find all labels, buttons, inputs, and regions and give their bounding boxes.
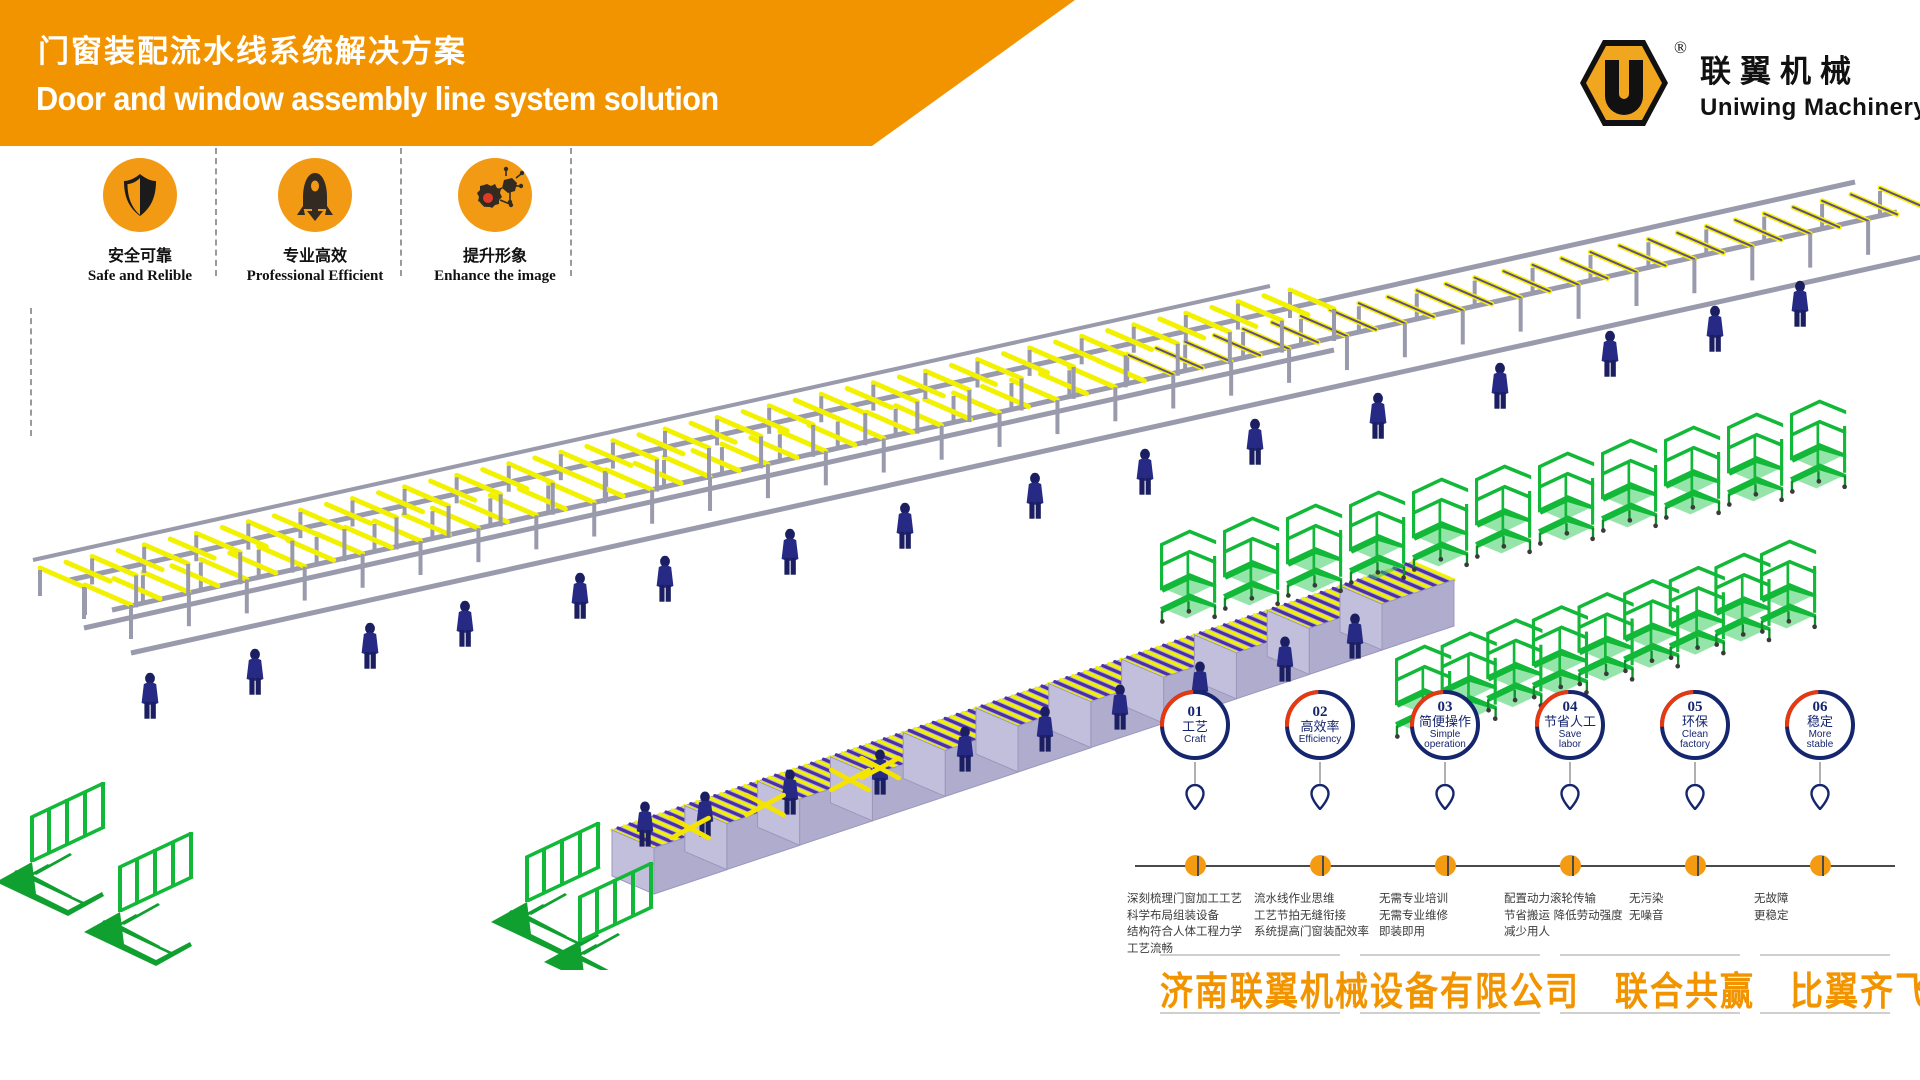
timeline-stem [1694, 762, 1696, 784]
footer-rule [1760, 954, 1890, 956]
timeline-circle: 03 简便操作 Simpleoperation [1410, 690, 1480, 760]
hexagon-u-logo-icon [1578, 38, 1670, 128]
timeline-circle: 01 工艺 Craft [1160, 690, 1230, 760]
timeline-node-01[interactable]: 01 工艺 Craft 深刻梳理门窗加工工艺科学布局组装设备 结构符合人体工程力… [1135, 690, 1255, 760]
timeline-stem [1194, 762, 1196, 784]
map-pin-icon [1560, 784, 1580, 810]
timeline-node-02[interactable]: 02 高效率 Efficiency 流水线作业思维工艺节拍无缝衔接 系统提高门窗… [1260, 690, 1380, 760]
green-trolley-row-upper [1160, 399, 1847, 623]
progress-arc [1521, 676, 1620, 775]
timeline-stem [1569, 762, 1571, 784]
timeline-description: 无故障更稳定 [1754, 890, 1920, 923]
registered-mark: ® [1674, 38, 1687, 58]
footer-rule [1360, 954, 1540, 956]
timeline-node-06[interactable]: 06 稳定 Morestable 无故障更稳定 [1760, 690, 1880, 760]
progress-arc [1396, 676, 1495, 775]
axis-tick [1322, 856, 1324, 876]
timeline-dot [1685, 855, 1706, 876]
axis-tick [1697, 856, 1699, 876]
timeline-dot [1310, 855, 1331, 876]
company-footer: 济南联翼机械设备有限公司 联合共赢 比翼齐飞 [1160, 960, 1890, 1020]
map-pin-icon [1810, 784, 1830, 810]
timeline-axis [1135, 865, 1895, 867]
timeline-stem [1819, 762, 1821, 784]
axis-tick [1572, 856, 1574, 876]
timeline-dot [1185, 855, 1206, 876]
progress-arc [1771, 676, 1870, 775]
page-title-en: Door and window assembly line system sol… [36, 80, 719, 118]
footer-company-name: 济南联翼机械设备有限公司 联合共赢 比翼齐飞 [1160, 960, 1890, 1017]
timeline-circle: 06 稳定 Morestable [1785, 690, 1855, 760]
progress-arc [1271, 676, 1370, 775]
timeline-node-03[interactable]: 03 简便操作 Simpleoperation 无需专业培训无需专业维修 即装即… [1385, 690, 1505, 760]
footer-rule [1160, 954, 1340, 956]
logo-name-en: Uniwing Machinery [1700, 94, 1920, 122]
footer-rule [1760, 1012, 1890, 1014]
axis-tick [1197, 856, 1199, 876]
progress-arc [1646, 676, 1745, 775]
benefits-timeline: 01 工艺 Craft 深刻梳理门窗加工工艺科学布局组装设备 结构符合人体工程力… [1135, 690, 1895, 980]
axis-tick [1447, 856, 1449, 876]
timeline-circle: 02 高效率 Efficiency [1285, 690, 1355, 760]
timeline-node-05[interactable]: 05 环保 Cleanfactory 无污染无噪音 [1635, 690, 1755, 760]
timeline-dot [1810, 855, 1831, 876]
logo-name-cn: 联翼机械 [1700, 46, 1860, 91]
footer-rule [1560, 954, 1740, 956]
timeline-node-04[interactable]: 04 节省人工 Savelabor 配置动力滚轮传输节省搬运 降低劳动强度 减少… [1510, 690, 1630, 760]
footer-rule [1360, 1012, 1540, 1014]
map-pin-icon [1310, 784, 1330, 810]
header-banner [0, 0, 1075, 146]
map-pin-icon [1185, 784, 1205, 810]
map-pin-icon [1435, 784, 1455, 810]
a-frame-racks [0, 782, 654, 970]
axis-tick [1822, 856, 1824, 876]
company-logo: ® 联翼机械 Uniwing Machinery [1578, 34, 1908, 134]
middle-conveyor-line [33, 286, 1334, 628]
timeline-stem [1319, 762, 1321, 784]
timeline-circle: 05 环保 Cleanfactory [1660, 690, 1730, 760]
timeline-dot [1560, 855, 1581, 876]
footer-rule [1560, 1012, 1740, 1014]
timeline-stem [1444, 762, 1446, 784]
timeline-circle: 04 节省人工 Savelabor [1535, 690, 1605, 760]
timeline-dot [1435, 855, 1456, 876]
progress-arc [1146, 676, 1245, 775]
upper-conveyor-line [70, 182, 1920, 653]
footer-rule [1160, 1012, 1340, 1014]
page-title-cn: 门窗装配流水线系统解决方案 [38, 26, 467, 71]
map-pin-icon [1685, 784, 1705, 810]
